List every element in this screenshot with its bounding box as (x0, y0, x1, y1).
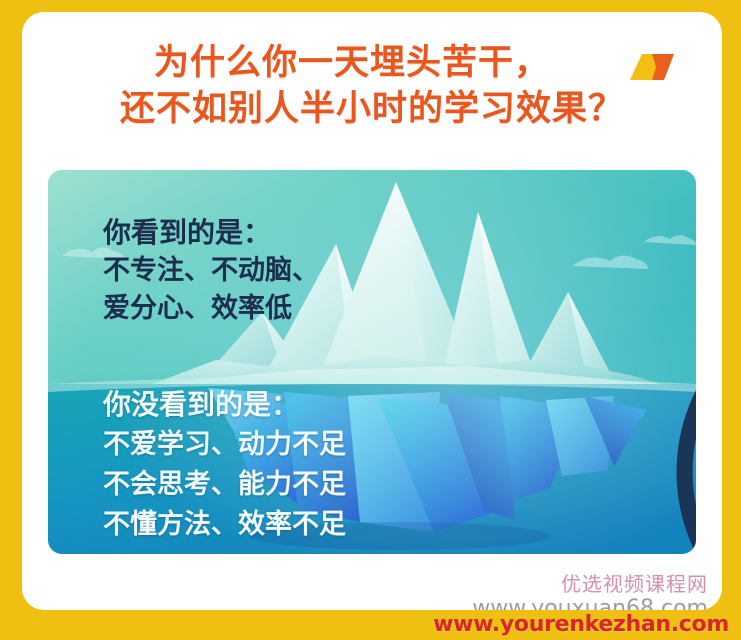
headline-line-2: 还不如别人半小时的学习效果？ (22, 86, 722, 132)
rhombus-decoration-icon (630, 54, 674, 80)
poster-root: 为什么你一天埋头苦干， 还不如别人半小时的学习效果？ (0, 0, 741, 640)
iceberg-illustration: 你看到的是： 不专注、不动脑、 爱分心、效率低 你没看到的是： 不爱学习、动力不… (48, 170, 696, 554)
headline-line-1: 为什么你一天埋头苦干， (22, 40, 722, 86)
page-title: 为什么你一天埋头苦干， 还不如别人半小时的学习效果？ (22, 40, 722, 132)
footer-site-url-gray: www.youxuan68.com (472, 596, 708, 610)
iceberg-svg (48, 170, 696, 554)
footer-site-name-cn: 优选视频课程网 (561, 568, 708, 597)
white-card: 为什么你一天埋头苦干， 还不如别人半小时的学习效果？ (22, 12, 722, 610)
footer-site-url-red: www.yourenkezhan.com (433, 612, 729, 637)
